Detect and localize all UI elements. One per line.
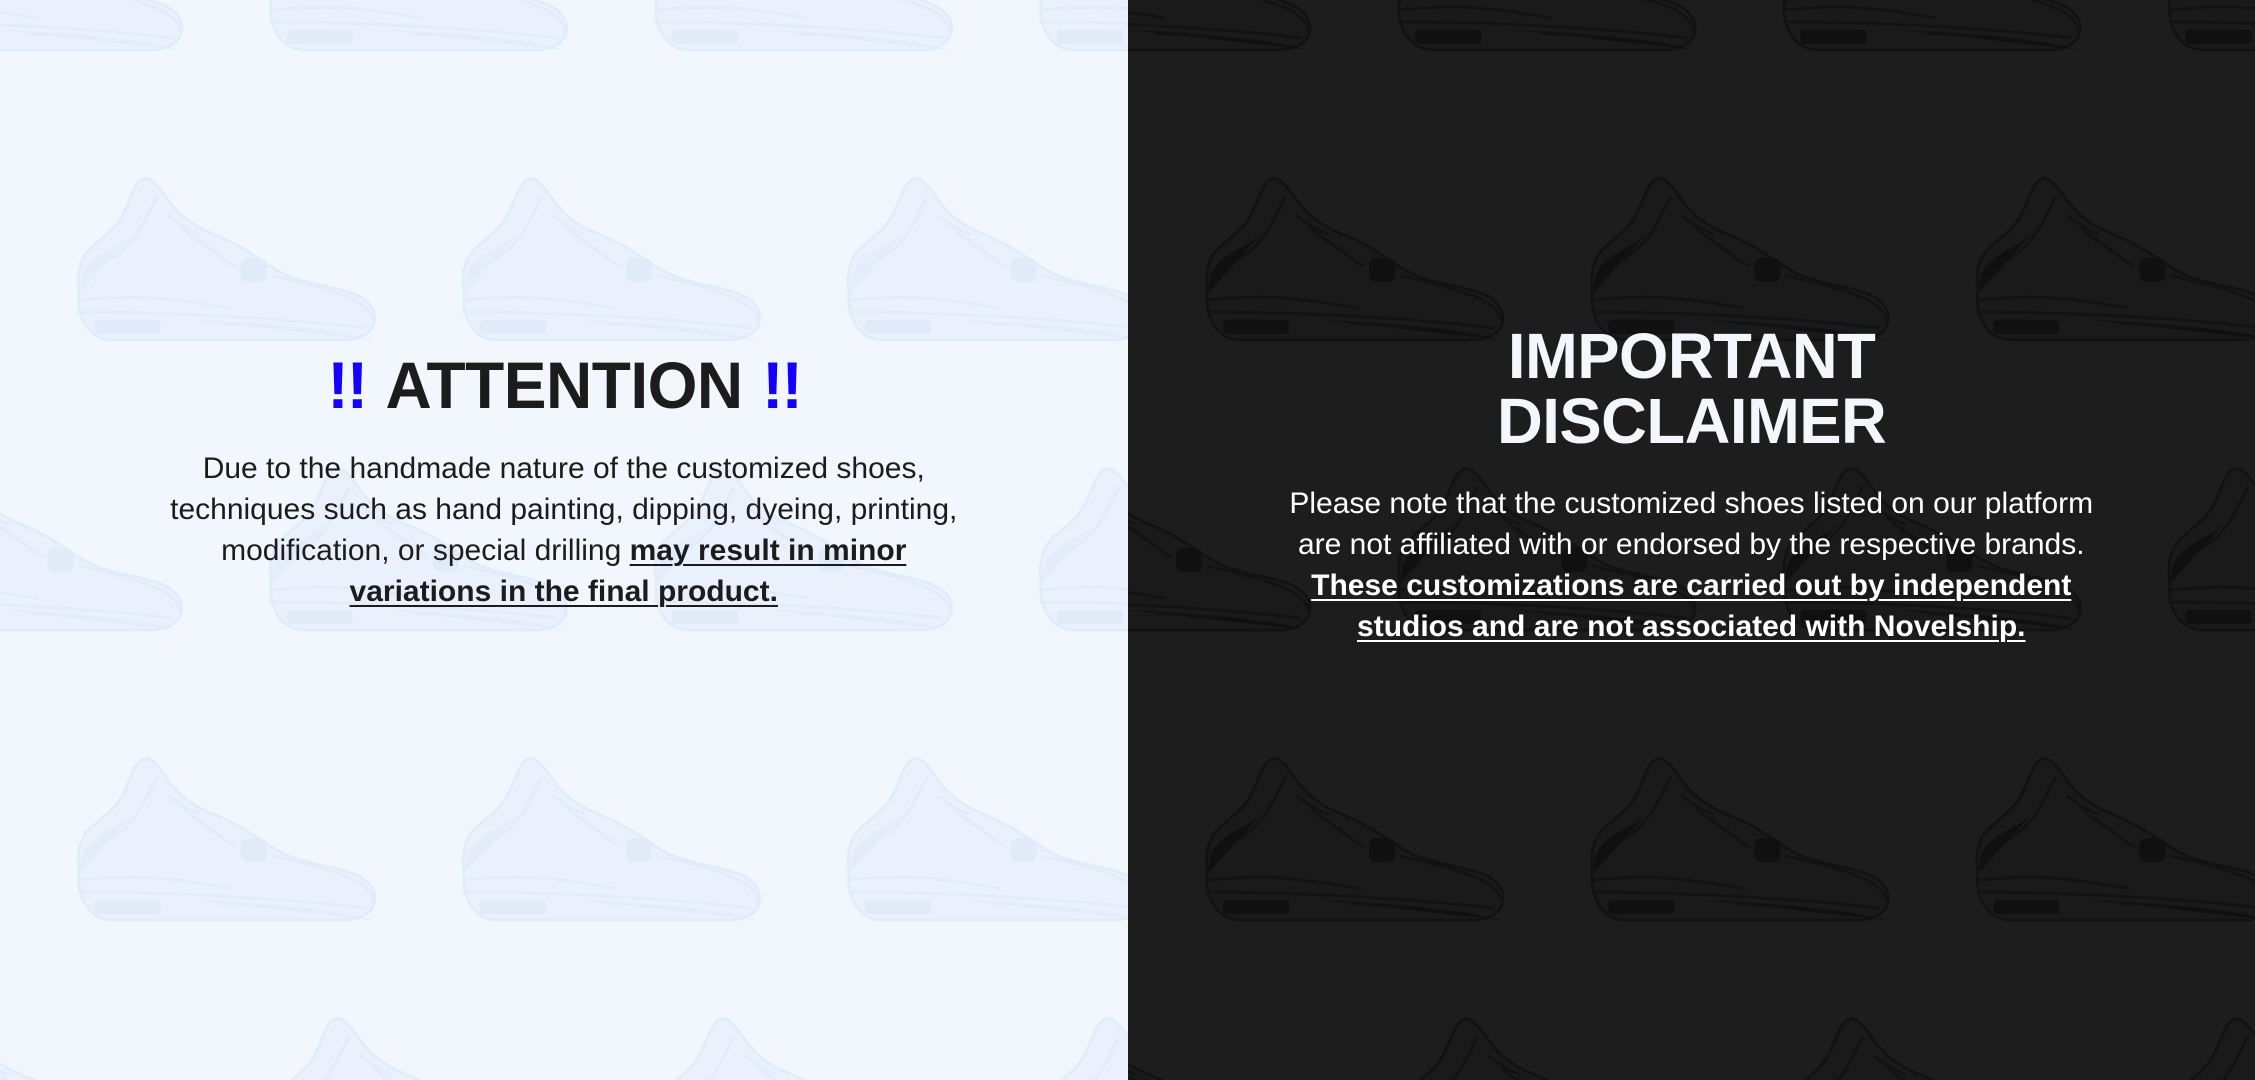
- double-exclamation-mark-icon-right: !!: [762, 348, 801, 422]
- disclaimer-content: IMPORTANT DISCLAIMER Please note that th…: [1128, 0, 2255, 647]
- attention-content: !!ATTENTION!! Due to the handmade nature…: [0, 0, 1128, 612]
- double-exclamation-mark-icon-left: !!: [327, 348, 366, 422]
- disclaimer-banner: !!ATTENTION!! Due to the handmade nature…: [0, 0, 2255, 1080]
- disclaimer-heading-line-1: IMPORTANT: [1497, 324, 1886, 389]
- attention-heading-text: ATTENTION: [385, 348, 742, 422]
- disclaimer-heading: IMPORTANT DISCLAIMER: [1497, 324, 1886, 455]
- disclaimer-heading-line-2: DISCLAIMER: [1497, 389, 1886, 454]
- attention-panel: !!ATTENTION!! Due to the handmade nature…: [0, 0, 1128, 1080]
- disclaimer-body-normal: Please note that the customized shoes li…: [1289, 487, 2093, 561]
- disclaimer-body: Please note that the customized shoes li…: [1281, 483, 2101, 647]
- attention-heading: !!ATTENTION!!: [327, 352, 801, 418]
- disclaimer-panel: IMPORTANT DISCLAIMER Please note that th…: [1128, 0, 2255, 1080]
- attention-body: Due to the handmade nature of the custom…: [164, 448, 964, 612]
- disclaimer-body-emphasis: These customizations are carried out by …: [1311, 569, 2071, 643]
